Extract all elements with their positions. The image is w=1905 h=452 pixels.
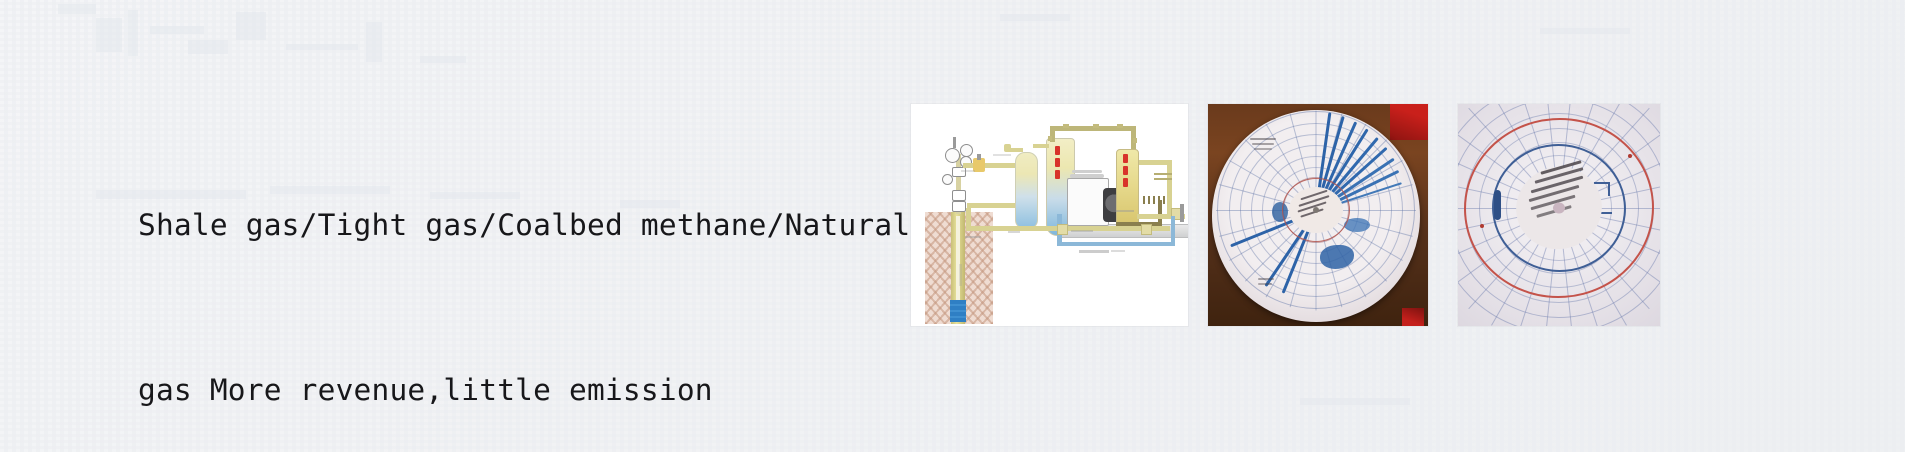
motor-fin bbox=[1072, 170, 1102, 173]
texture-blotch bbox=[188, 40, 228, 54]
diagram-annotation bbox=[1116, 210, 1134, 212]
wellhead-valve bbox=[945, 148, 960, 163]
produced-water-header bbox=[1057, 242, 1175, 246]
inlet-scrubber-vessel bbox=[1015, 152, 1038, 229]
regenerator-indicator-red bbox=[1123, 178, 1128, 187]
wellhead-spool bbox=[952, 167, 966, 177]
texture-blotch bbox=[150, 26, 204, 34]
choke-stem bbox=[977, 154, 981, 160]
produced-water-riser bbox=[1171, 216, 1175, 244]
flowline-wellhead-to-separator bbox=[963, 163, 1015, 168]
pipe-node bbox=[1133, 138, 1137, 143]
wellhead-spool bbox=[952, 201, 966, 212]
slide-canvas: Shale gas/Tight gas/Coalbed methane/Natu… bbox=[0, 0, 1905, 452]
headline: Shale gas/Tight gas/Coalbed methane/Natu… bbox=[138, 88, 868, 452]
texture-blotch bbox=[58, 4, 96, 14]
headline-line-2: gas More revenue,little emission bbox=[138, 363, 868, 418]
gallery-image-chart-recorder-photo[interactable] bbox=[1208, 104, 1428, 326]
perforation-zone bbox=[950, 300, 966, 322]
level-indicator-red bbox=[1055, 158, 1060, 167]
pipe-node bbox=[1093, 124, 1099, 128]
pipe-node bbox=[1117, 124, 1123, 128]
chart-pen-trace-blue-thick bbox=[1494, 190, 1501, 220]
pipe-node bbox=[1048, 136, 1052, 141]
gallery-image-process-flow-diagram[interactable] bbox=[911, 104, 1188, 326]
regenerator-indicator-red bbox=[1123, 166, 1128, 175]
export-cooler-coil bbox=[1154, 170, 1172, 180]
texture-blotch bbox=[1540, 28, 1630, 34]
chart-printed-text bbox=[1258, 278, 1274, 280]
heat-exchanger-coil bbox=[1143, 196, 1165, 204]
texture-blotch bbox=[96, 18, 122, 52]
chart-pen-trace-red-tick bbox=[1628, 154, 1632, 158]
contactor-feed-pipe bbox=[1033, 144, 1049, 148]
chart-closeup-paper bbox=[1458, 104, 1660, 326]
process-flow-diagram-graphic bbox=[911, 104, 1188, 326]
chart-center-hole bbox=[1313, 207, 1319, 213]
level-indicator-red bbox=[1055, 146, 1060, 155]
texture-blotch bbox=[1300, 398, 1410, 405]
return-line-valve bbox=[1057, 224, 1068, 235]
diagram-annotation bbox=[959, 264, 962, 286]
annulus-return-header bbox=[966, 226, 1170, 231]
diagram-caption-mark bbox=[1111, 250, 1125, 252]
scrubber-inlet-valve bbox=[1004, 144, 1011, 152]
pipe-node bbox=[1063, 124, 1069, 128]
diagram-annotation bbox=[965, 236, 981, 238]
diagram-annotation bbox=[993, 154, 1011, 156]
red-object-bottom-right bbox=[1402, 308, 1424, 326]
chart-disc-paper bbox=[1212, 110, 1420, 322]
wellhead-spool bbox=[952, 190, 966, 201]
motor-fin bbox=[1070, 174, 1104, 178]
texture-blotch bbox=[366, 22, 382, 62]
texture-blotch bbox=[286, 44, 358, 50]
diagram-annotation bbox=[1071, 230, 1093, 232]
diagram-annotation bbox=[961, 170, 975, 172]
diagram-caption-mark bbox=[1079, 250, 1109, 253]
chart-pen-trace-red-tick bbox=[1480, 224, 1484, 228]
texture-blotch bbox=[236, 12, 266, 40]
texture-blotch bbox=[420, 56, 466, 63]
headline-line-1: Shale gas/Tight gas/Coalbed methane/Natu… bbox=[138, 198, 868, 253]
regenerator-indicator-red bbox=[1123, 154, 1128, 163]
return-line-valve bbox=[1141, 224, 1152, 235]
chart-center-hole bbox=[1553, 203, 1565, 214]
red-object-top-right bbox=[1390, 104, 1428, 140]
chart-printed-text bbox=[1258, 283, 1272, 285]
gallery-image-chart-closeup[interactable] bbox=[1458, 104, 1660, 326]
chart-printed-text bbox=[1252, 143, 1274, 145]
level-indicator-red bbox=[1055, 170, 1060, 179]
chart-printed-text bbox=[1250, 138, 1276, 140]
chart-pen-trace-blue-step bbox=[1608, 182, 1610, 196]
texture-blotch bbox=[128, 10, 138, 56]
diagram-annotation bbox=[1008, 231, 1020, 233]
export-meter-run bbox=[1180, 204, 1184, 222]
texture-blotch bbox=[1000, 14, 1070, 21]
wellhead-stub bbox=[953, 137, 956, 148]
scrubber-inlet-pipe bbox=[1009, 148, 1023, 152]
annulus-tie-in bbox=[967, 203, 1015, 208]
chart-printed-text bbox=[1254, 148, 1272, 150]
